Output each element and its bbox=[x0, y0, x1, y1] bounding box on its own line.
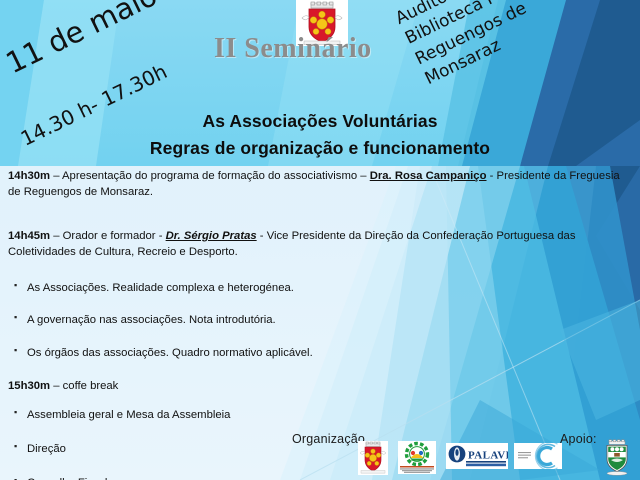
agenda-body: 14h30m – Apresentação do programa de for… bbox=[0, 168, 640, 426]
page-title: As Associações Voluntárias Regras de org… bbox=[0, 108, 640, 162]
agenda-item-2: 14h45m – Orador e formador - Dr. Sérgio … bbox=[8, 228, 632, 261]
crest-apoio-logo bbox=[600, 438, 634, 476]
coffee-break-label: – coffe break bbox=[50, 380, 118, 392]
agenda-item-2-role-1: - Vice Presidente da Direção da Confeder… bbox=[257, 230, 576, 242]
agenda-item-1-desc: Apresentação do programa de formação do … bbox=[62, 170, 370, 182]
seminar-label: II Seminário bbox=[214, 33, 372, 65]
agenda-item-1: 14h30m – Apresentação do programa de for… bbox=[8, 168, 632, 201]
agenda-item-1-dash: – bbox=[50, 170, 62, 182]
list-item: Os órgãos das associações. Quadro normat… bbox=[8, 346, 632, 361]
organizacao-label: Organização bbox=[292, 432, 365, 446]
coffee-break-time: 15h30m bbox=[8, 380, 50, 392]
palavra-logo: PALAVRA bbox=[446, 443, 508, 469]
venue-block: Auditório da Biblioteca Municipal Reguen… bbox=[392, 0, 640, 91]
agenda-item-1-speaker: Dra. Rosa Campaniço bbox=[370, 170, 487, 182]
apoio-label: Apoio: bbox=[560, 432, 597, 446]
agenda-item-2-dash: – bbox=[50, 230, 63, 242]
title-line-2: Regras de organização e funcionamento bbox=[0, 135, 640, 162]
list-item: As Associações. Realidade complexa e het… bbox=[8, 281, 632, 296]
coffee-break-line: 15h30m – coffe break bbox=[8, 379, 632, 394]
list-item: A governação nas associações. Nota intro… bbox=[8, 313, 632, 328]
crest-reguengos-monsaraz-logo bbox=[358, 441, 388, 475]
topic-list-block-1: As Associações. Realidade complexa e het… bbox=[8, 281, 632, 361]
list-item: Assembleia geral e Mesa da Assembleia bbox=[8, 408, 632, 423]
poster-header: II Seminário 11 de maio 14.30 h- 17.30h … bbox=[0, 0, 640, 165]
agenda-item-2-time: 14h45m bbox=[8, 230, 50, 242]
agenda-item-1-time: 14h30m bbox=[8, 170, 50, 182]
event-date-handwritten: 11 de maio bbox=[1, 0, 163, 80]
agenda-item-2-role-2: Coletividades de Cultura, Recreio e Desp… bbox=[8, 246, 238, 258]
agenda-item-2-desc: Orador e formador - bbox=[63, 230, 166, 242]
svg-text:PALAVRA: PALAVRA bbox=[468, 450, 508, 462]
title-line-1: As Associações Voluntárias bbox=[0, 108, 640, 135]
agenda-item-2-speaker: Dr. Sérgio Pratas bbox=[166, 230, 257, 242]
c-mark-logo bbox=[514, 443, 562, 469]
poster-canvas: II Seminário 11 de maio 14.30 h- 17.30h … bbox=[0, 0, 640, 480]
agenda-item-1-role-1: - Presidente da bbox=[487, 170, 567, 182]
confederacao-coletividades-logo bbox=[398, 441, 436, 474]
